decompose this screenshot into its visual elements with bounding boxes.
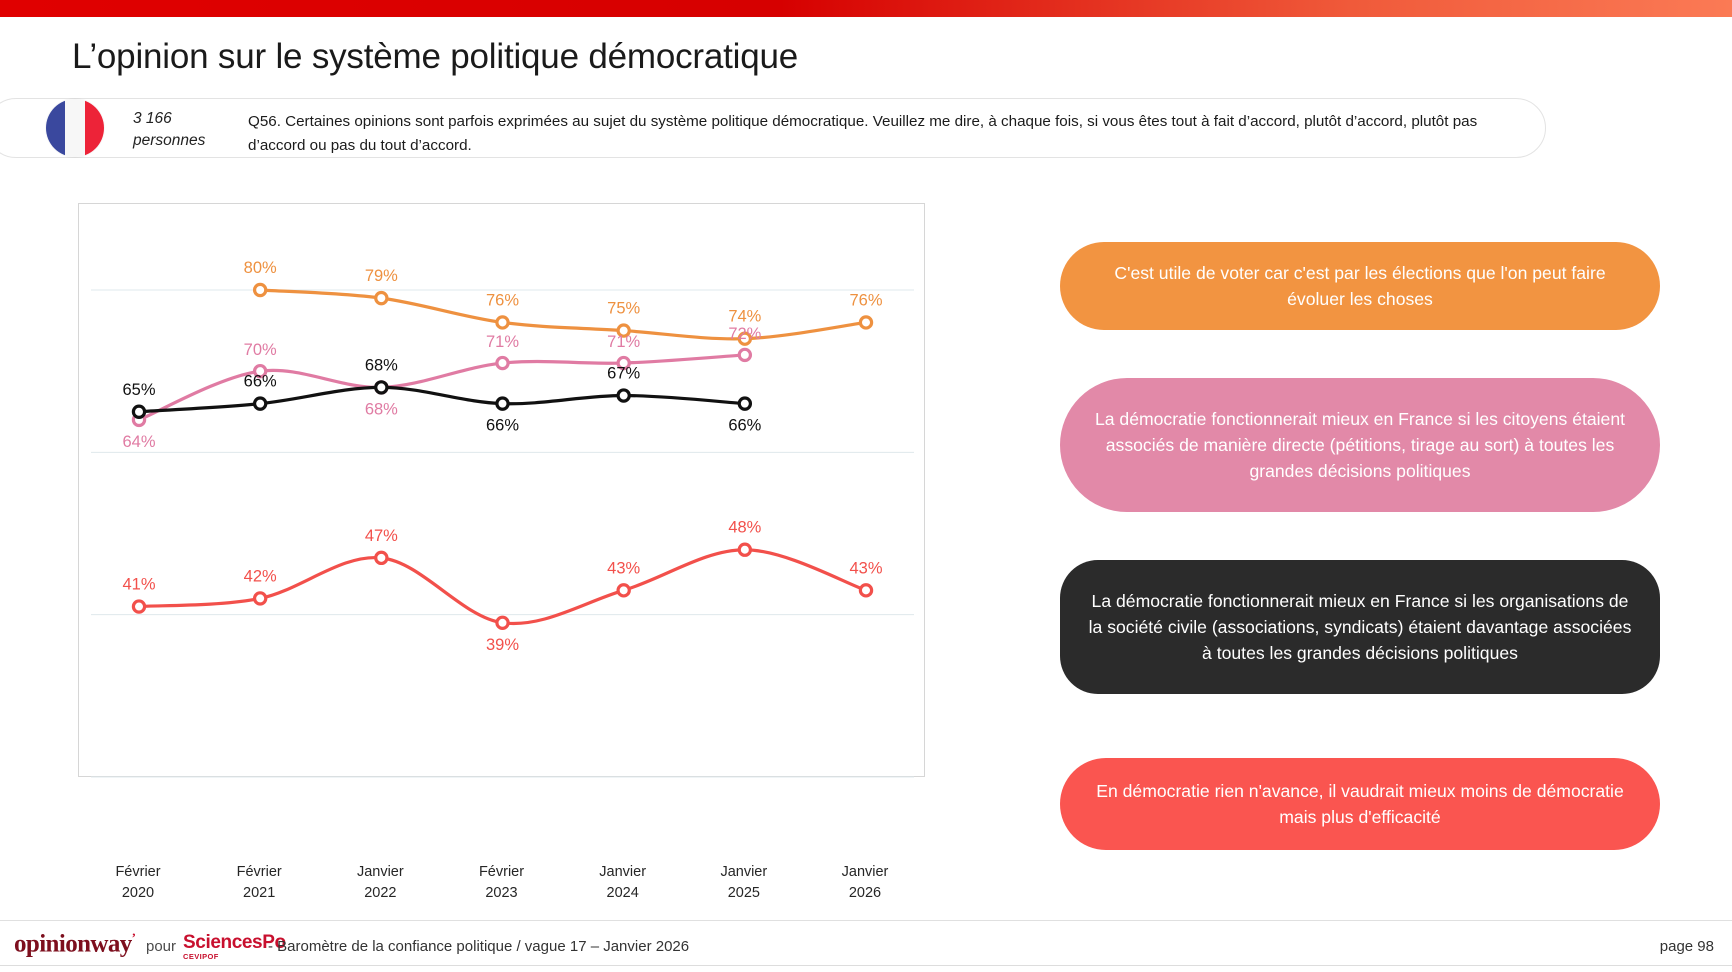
legend-pill-citizens[interactable]: La démocratie fonctionnerait mieux en Fr… — [1060, 378, 1660, 512]
x-axis-tick-month: Janvier — [563, 862, 683, 883]
data-point-label: 71% — [486, 333, 519, 351]
x-axis-tick-month: Janvier — [684, 862, 804, 883]
chart-series-3: 41%42%47%39%43%48%43% — [122, 519, 882, 654]
x-axis-tick-month: Février — [78, 862, 198, 883]
sample-size: 3 166 personnes — [133, 108, 243, 152]
data-point-label: 47% — [365, 527, 398, 545]
data-point-label: 66% — [244, 373, 277, 391]
data-point-label: 41% — [122, 576, 155, 594]
data-point-label: 43% — [849, 559, 882, 577]
x-axis-labels: Février2020Février2021Janvier2022Février… — [78, 862, 925, 922]
x-axis-tick-2: Janvier2022 — [320, 862, 440, 904]
data-point-label: 66% — [728, 417, 761, 435]
x-axis-tick-year: 2022 — [320, 883, 440, 904]
x-axis-tick-year: 2020 — [78, 883, 198, 904]
sample-size-value: 3 166 — [133, 108, 243, 130]
line-chart: 20%40%60%80%80%79%76%75%74%76%64%70%68%7… — [79, 204, 926, 778]
chart-series-1: 64%70%68%71%71%72% — [122, 325, 761, 451]
x-axis-tick-year: 2021 — [199, 883, 319, 904]
opinionway-logo-text: opinionway — [14, 930, 132, 957]
footer-pour-label: pour — [146, 938, 176, 955]
x-axis-tick-3: Février2023 — [442, 862, 562, 904]
x-axis-tick-month: Février — [442, 862, 562, 883]
legend-pill-less-democracy[interactable]: En démocratie rien n'avance, il vaudrait… — [1060, 758, 1660, 850]
x-axis-tick-6: Janvier2026 — [805, 862, 925, 904]
data-point-label: 76% — [849, 291, 882, 309]
data-point-label: 48% — [728, 519, 761, 537]
footer-divider-bottom — [0, 965, 1732, 966]
data-point-label: 43% — [607, 559, 640, 577]
x-axis-tick-year: 2026 — [805, 883, 925, 904]
page-number: page 98 — [1660, 938, 1714, 955]
data-point-label: 67% — [607, 365, 640, 383]
top-accent-bar — [0, 0, 1732, 17]
data-point-label: 76% — [486, 291, 519, 309]
data-point-label: 66% — [486, 417, 519, 435]
data-point-label: 80% — [244, 259, 277, 277]
x-axis-tick-1: Février2021 — [199, 862, 319, 904]
data-point-label: 71% — [607, 333, 640, 351]
x-axis-tick-month: Janvier — [320, 862, 440, 883]
opinionway-logo: opinionway’ — [14, 930, 135, 958]
question-text: Q56. Certaines opinions sont parfois exp… — [248, 110, 1520, 158]
x-axis-tick-year: 2023 — [442, 883, 562, 904]
sample-size-unit: personnes — [133, 130, 243, 152]
data-point-label: 68% — [365, 400, 398, 418]
data-point-label: 70% — [244, 341, 277, 359]
x-axis-tick-month: Janvier — [805, 862, 925, 883]
footer-divider — [0, 920, 1732, 921]
page-title: L’opinion sur le système politique démoc… — [72, 37, 798, 77]
chart-plot-area: 20%40%60%80%80%79%76%75%74%76%64%70%68%7… — [78, 203, 925, 777]
data-point-label: 39% — [486, 636, 519, 654]
data-point-label: 74% — [728, 308, 761, 326]
data-point-label: 42% — [244, 567, 277, 585]
legend-pill-civil-society[interactable]: La démocratie fonctionnerait mieux en Fr… — [1060, 560, 1660, 694]
data-point-label: 72% — [728, 325, 761, 343]
x-axis-tick-month: Février — [199, 862, 319, 883]
chart-series-2: 65%66%68%66%67%66% — [122, 356, 761, 434]
legend-pill-voting[interactable]: C'est utile de voter car c'est par les é… — [1060, 242, 1660, 330]
x-axis-tick-year: 2024 — [563, 883, 683, 904]
france-flag-icon — [46, 99, 104, 157]
x-axis-tick-0: Février2020 — [78, 862, 198, 904]
x-axis-tick-4: Janvier2024 — [563, 862, 683, 904]
x-axis-tick-5: Janvier2025 — [684, 862, 804, 904]
data-point-label: 65% — [122, 381, 155, 399]
x-axis-tick-year: 2025 — [684, 883, 804, 904]
chart-series-0: 80%79%76%75%74%76% — [244, 259, 883, 344]
data-point-label: 68% — [365, 356, 398, 374]
data-point-label: 64% — [122, 433, 155, 451]
data-point-label: 75% — [607, 300, 640, 318]
data-point-label: 79% — [365, 267, 398, 285]
footer-source: - Baromètre de la confiance politique / … — [268, 938, 689, 955]
